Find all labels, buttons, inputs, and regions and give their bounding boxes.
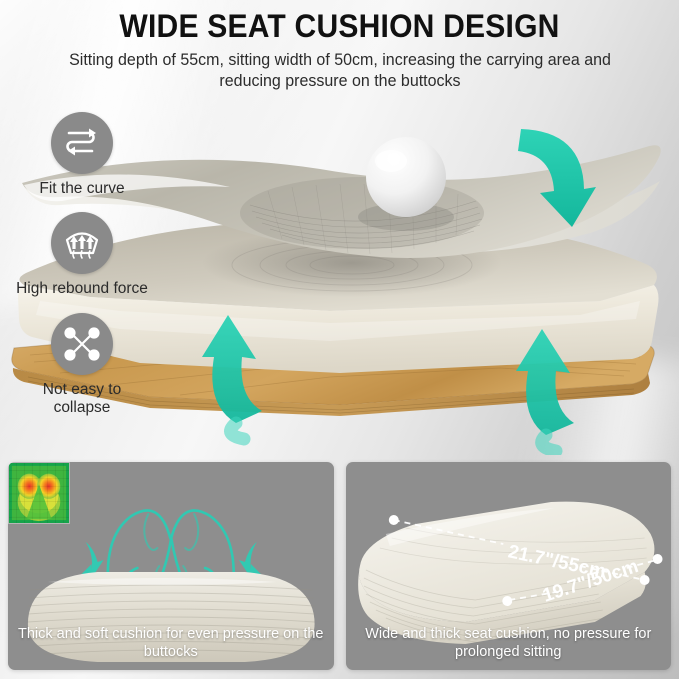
serpentine-arrows-icon	[51, 112, 113, 174]
header: WIDE SEAT CUSHION DESIGN Sitting depth o…	[0, 10, 679, 92]
dimensions-panel: 21.7"/55cm 19.7"/50cm Wide and thick sea…	[346, 462, 672, 670]
infographic-page: WIDE SEAT CUSHION DESIGN Sitting depth o…	[0, 0, 679, 679]
molecule-structure-icon	[51, 313, 113, 375]
feature-label: High rebound force	[16, 280, 148, 298]
feature-label: Not easy to collapse	[16, 381, 148, 418]
pressure-panel: Thick and soft cushion for even pressure…	[8, 462, 334, 670]
feature-item-fit-the-curve: Fit the curve	[16, 112, 148, 198]
panel-caption: Wide and thick seat cushion, no pressure…	[346, 625, 672, 661]
feature-item-high-rebound-force: High rebound force	[16, 212, 148, 298]
feature-label: Fit the curve	[16, 180, 148, 198]
feature-item-not-easy-to-collapse: Not easy to collapse	[16, 313, 148, 418]
feature-list: Fit the curve High	[16, 112, 148, 431]
page-title: WIDE SEAT CUSHION DESIGN	[20, 10, 658, 44]
bottom-panels: Thick and soft cushion for even pressure…	[8, 462, 671, 670]
page-subtitle: Sitting depth of 55cm, sitting width of …	[68, 50, 611, 92]
pressure-ball	[358, 137, 454, 231]
panel-caption: Thick and soft cushion for even pressure…	[8, 625, 334, 661]
pressure-heatmap-thumbnail	[8, 462, 70, 524]
rebound-arrows-icon	[51, 212, 113, 274]
